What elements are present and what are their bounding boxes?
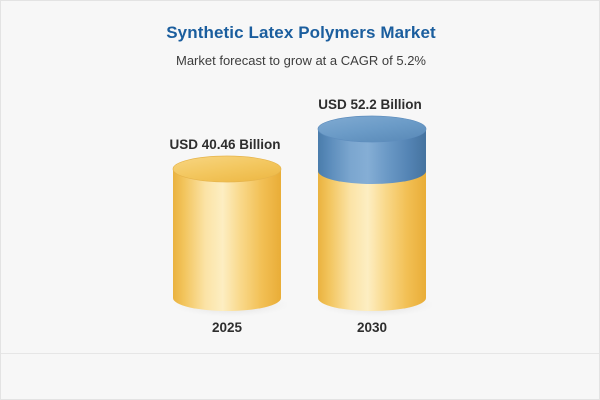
bar-cylinder-2030[interactable] [310,113,434,319]
category-label-2030: 2030 [272,320,472,335]
chart-plot-area: USD 40.46 Billion USD 52.2 Billion [1,1,600,353]
footer: https://www.researchandmarkets.com/repor… [1,354,599,399]
chart-canvas: Synthetic Latex Polymers Market Market f… [0,0,600,400]
bar-cylinder-2025[interactable] [165,153,289,319]
value-label-2025: USD 40.46 Billion [125,137,325,152]
value-label-2030: USD 52.2 Billion [270,97,470,112]
